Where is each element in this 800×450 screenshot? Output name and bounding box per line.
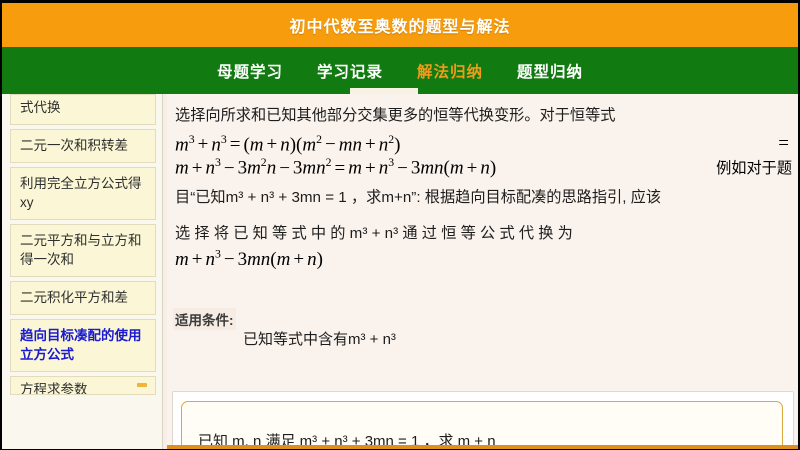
page-title: 初中代数至奥数的题型与解法 [289, 13, 510, 37]
formula-2: m+n3−3m2n−3mn2=m+n3−3mn(m+n) [175, 156, 496, 179]
body-region: 式代换 二元一次和积转差 利用完全立方公式得xy 二元平方和与立方和得一次和 二… [2, 94, 798, 449]
sidebar-item-label: 趋向目标凑配的使用立方公式 [20, 328, 142, 362]
bottom-accent-bar [167, 445, 798, 449]
example-paragraph: 目“已知m³ + n³ + 3mn = 1 ，求m+n”: 根据趋向目标配凑的思… [167, 180, 798, 252]
sidebar-item-label: 二元积化平方和差 [20, 290, 128, 305]
sidebar-item-wanquan-lifang[interactable]: 利用完全立方公式得xy [10, 167, 156, 220]
sidebar-item-label: 式代换 [20, 100, 61, 115]
content-panel: 选择向所求和已知其他部分交集更多的恒等代换变形。对于恒等式 m3+n3=(m+n… [167, 94, 798, 449]
sidebar-item-fangcheng-canshu[interactable]: 方程求参数 [10, 376, 156, 395]
sidebar-item-eryuan-yici[interactable]: 二元一次和积转差 [10, 129, 156, 163]
lead-text: 选择向所求和已知其他部分交集更多的恒等代换变形。对于恒等式 [175, 98, 792, 133]
example-line: 目“已知m³ + n³ + 3mn = 1 ，求m+n”: 根据趋向目标配凑的思… [175, 180, 792, 216]
condition-label: 适用条件: [173, 308, 236, 330]
tab-study-record[interactable]: 学习记录 [313, 58, 387, 84]
sidebar-item-label: 方程求参数 [20, 382, 88, 395]
formula-1: m3+n3=(m+n)(m2−mn+n2) [175, 133, 400, 156]
tab-solution-summary[interactable]: 解法归纳 [413, 58, 487, 84]
equals-sign: = [775, 133, 792, 156]
sidebar-item-shi-daihuan[interactable]: 式代换 [10, 94, 156, 125]
sidebar-item-pingfanghe-lifanghe[interactable]: 二元平方和与立方和得一次和 [10, 224, 156, 277]
sidebar-item-jihua-pingfang[interactable]: 二元积化平方和差 [10, 281, 156, 315]
sidebar-item-label: 利用完全立方公式得xy [20, 176, 142, 210]
chevron-down-icon [137, 383, 147, 387]
tab-problem-type-summary[interactable]: 题型归纳 [513, 58, 587, 84]
app-window: 初中代数至奥数的题型与解法 母题学习 学习记录 解法归纳 题型归纳 式代换 二元… [2, 3, 798, 449]
example-lead: 例如对于题 [716, 156, 792, 179]
formula-line-1: m3+n3=(m+n)(m2−mn+n2) = [167, 133, 798, 156]
sidebar-item-label: 二元平方和与立方和得一次和 [20, 233, 142, 267]
question-panel: 已知 m, n 满足 m³ + n³ + 3mn = 1 ，求 m + n [172, 391, 794, 449]
sidebar[interactable]: 式代换 二元一次和积转差 利用完全立方公式得xy 二元平方和与立方和得一次和 二… [2, 94, 163, 449]
formula-line-2: m+n3−3m2n−3mn2=m+n3−3mn(m+n) 例如对于题 [167, 156, 798, 179]
choose-line: 选 择 将 已 知 等 式 中 的 m³ + n³ 通 过 恒 等 公 式 代 … [175, 216, 792, 252]
sidebar-item-quxiang-mubiao[interactable]: 趋向目标凑配的使用立方公式 [10, 319, 156, 372]
formula-3: m+n3−3mn(m+n) [175, 249, 323, 270]
condition-text: 已知等式中含有m³ + n³ [243, 328, 396, 349]
lead-paragraph: 选择向所求和已知其他部分交集更多的恒等代换变形。对于恒等式 [167, 94, 798, 133]
question-box[interactable]: 已知 m, n 满足 m³ + n³ + 3mn = 1 ，求 m + n [181, 401, 783, 449]
sidebar-item-label: 二元一次和积转差 [20, 138, 128, 153]
tab-mother-problems[interactable]: 母题学习 [213, 58, 287, 84]
title-bar: 初中代数至奥数的题型与解法 [2, 3, 798, 47]
nav-bar: 母题学习 学习记录 解法归纳 题型归纳 [2, 47, 798, 94]
